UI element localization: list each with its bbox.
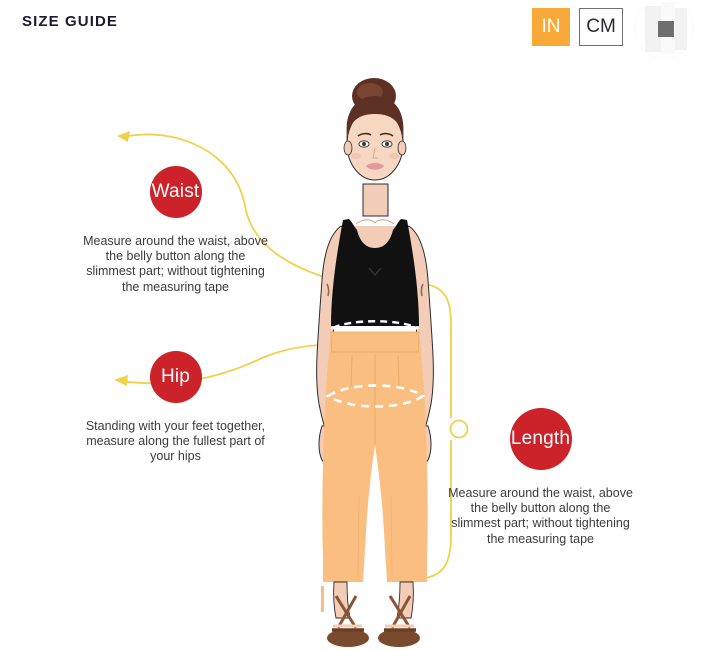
close-icon[interactable] <box>635 0 693 58</box>
unit-button-in[interactable]: IN <box>532 8 570 46</box>
cheek-blush-left <box>351 153 361 159</box>
length-badge: Length <box>510 408 572 470</box>
waist-badge: Waist <box>150 166 202 218</box>
callout-hip: Hip Standing with your feet together, me… <box>83 351 268 465</box>
illustration-stage: Waist Measure around the waist, above th… <box>0 56 701 650</box>
ear-right <box>398 141 406 155</box>
trouser-fold-sliver <box>321 586 324 612</box>
modal-header: SIZE GUIDE IN CM <box>0 0 701 56</box>
callout-waist: Waist Measure around the waist, above th… <box>83 166 268 295</box>
ear-left <box>344 141 352 155</box>
collarbone <box>356 220 394 224</box>
hip-description: Standing with your feet together, measur… <box>83 419 268 465</box>
cheek-blush-right <box>389 153 399 159</box>
unit-toggle-group[interactable]: IN CM <box>532 8 623 46</box>
pupil-left <box>362 142 366 146</box>
page-title: SIZE GUIDE <box>22 13 118 30</box>
waist-description: Measure around the waist, above the bell… <box>83 234 268 295</box>
waist-arrowhead <box>117 131 130 142</box>
unit-button-cm[interactable]: CM <box>579 8 623 46</box>
callout-length: Length Measure around the waist, above t… <box>448 408 633 547</box>
female-figure <box>317 78 434 647</box>
size-guide-modal: SIZE GUIDE IN CM <box>0 0 701 650</box>
hip-badge: Hip <box>150 351 202 403</box>
length-description: Measure around the waist, above the bell… <box>448 486 633 547</box>
trouser-waistband <box>331 332 419 352</box>
brown-strappy-sandals <box>327 596 420 647</box>
pupil-right <box>385 142 389 146</box>
neck <box>363 184 388 216</box>
